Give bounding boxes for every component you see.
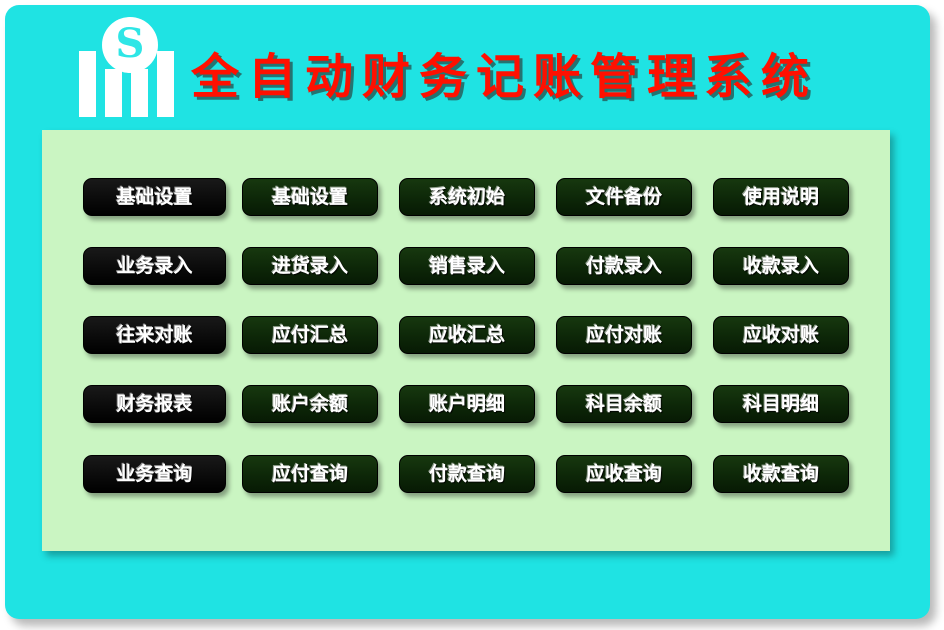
menu-item-subject-detail[interactable]: 科目明细 xyxy=(713,385,849,423)
menu-item-payable-summary[interactable]: 应付汇总 xyxy=(242,316,378,354)
logo-bar-3 xyxy=(131,69,148,117)
menu-item-payment-query[interactable]: 付款查询 xyxy=(399,455,535,493)
menu-item-subject-balance[interactable]: 科目余额 xyxy=(556,385,692,423)
menu-category-reconciliation[interactable]: 往来对账 xyxy=(83,316,226,354)
menu-item-purchase-entry[interactable]: 进货录入 xyxy=(242,247,378,285)
menu-item-receipt-entry[interactable]: 收款录入 xyxy=(713,247,849,285)
menu-category-business-entry[interactable]: 业务录入 xyxy=(83,247,226,285)
menu-item-receivable-summary[interactable]: 应收汇总 xyxy=(399,316,535,354)
menu-item-system-init[interactable]: 系统初始 xyxy=(399,178,535,216)
logo-bar-4 xyxy=(157,51,174,117)
menu-row: 基础设置 基础设置 系统初始 文件备份 使用说明 xyxy=(42,178,890,218)
menu-category-financial-reports[interactable]: 财务报表 xyxy=(83,385,226,423)
menu-category-business-query[interactable]: 业务查询 xyxy=(83,455,226,493)
menu-item-account-detail[interactable]: 账户明细 xyxy=(399,385,535,423)
application-window: S 全自动财务记账管理系统 基础设置 基础设置 系统初始 文件备份 使用说明 业… xyxy=(5,5,930,619)
menu-item-payment-entry[interactable]: 付款录入 xyxy=(556,247,692,285)
menu-item-receivable-query[interactable]: 应收查询 xyxy=(556,455,692,493)
menu-row: 业务录入 进货录入 销售录入 付款录入 收款录入 xyxy=(42,247,890,287)
menu-item-user-guide[interactable]: 使用说明 xyxy=(713,178,849,216)
menu-item-account-balance[interactable]: 账户余额 xyxy=(242,385,378,423)
menu-item-payable-reconcile[interactable]: 应付对账 xyxy=(556,316,692,354)
menu-panel: 基础设置 基础设置 系统初始 文件备份 使用说明 业务录入 进货录入 销售录入 … xyxy=(42,130,890,551)
logo-letter-badge: S xyxy=(102,17,158,73)
menu-row: 业务查询 应付查询 付款查询 应收查询 收款查询 xyxy=(42,455,890,495)
menu-item-file-backup[interactable]: 文件备份 xyxy=(556,178,692,216)
menu-item-sales-entry[interactable]: 销售录入 xyxy=(399,247,535,285)
bar-chart-logo: S xyxy=(73,15,183,120)
menu-grid: 基础设置 基础设置 系统初始 文件备份 使用说明 业务录入 进货录入 销售录入 … xyxy=(42,130,890,551)
logo-bar-1 xyxy=(79,51,96,117)
menu-item-payable-query[interactable]: 应付查询 xyxy=(242,455,378,493)
page-title: 全自动财务记账管理系统 xyxy=(191,37,818,107)
menu-row: 往来对账 应付汇总 应收汇总 应付对账 应收对账 xyxy=(42,316,890,356)
logo-bar-2 xyxy=(105,69,122,117)
menu-category-basic-settings[interactable]: 基础设置 xyxy=(83,178,226,216)
menu-row: 财务报表 账户余额 账户明细 科目余额 科目明细 xyxy=(42,385,890,425)
menu-item-receivable-reconcile[interactable]: 应收对账 xyxy=(713,316,849,354)
menu-item-basic-settings[interactable]: 基础设置 xyxy=(242,178,378,216)
menu-item-receipt-query[interactable]: 收款查询 xyxy=(713,455,849,493)
app-header: S 全自动财务记账管理系统 xyxy=(5,5,930,125)
